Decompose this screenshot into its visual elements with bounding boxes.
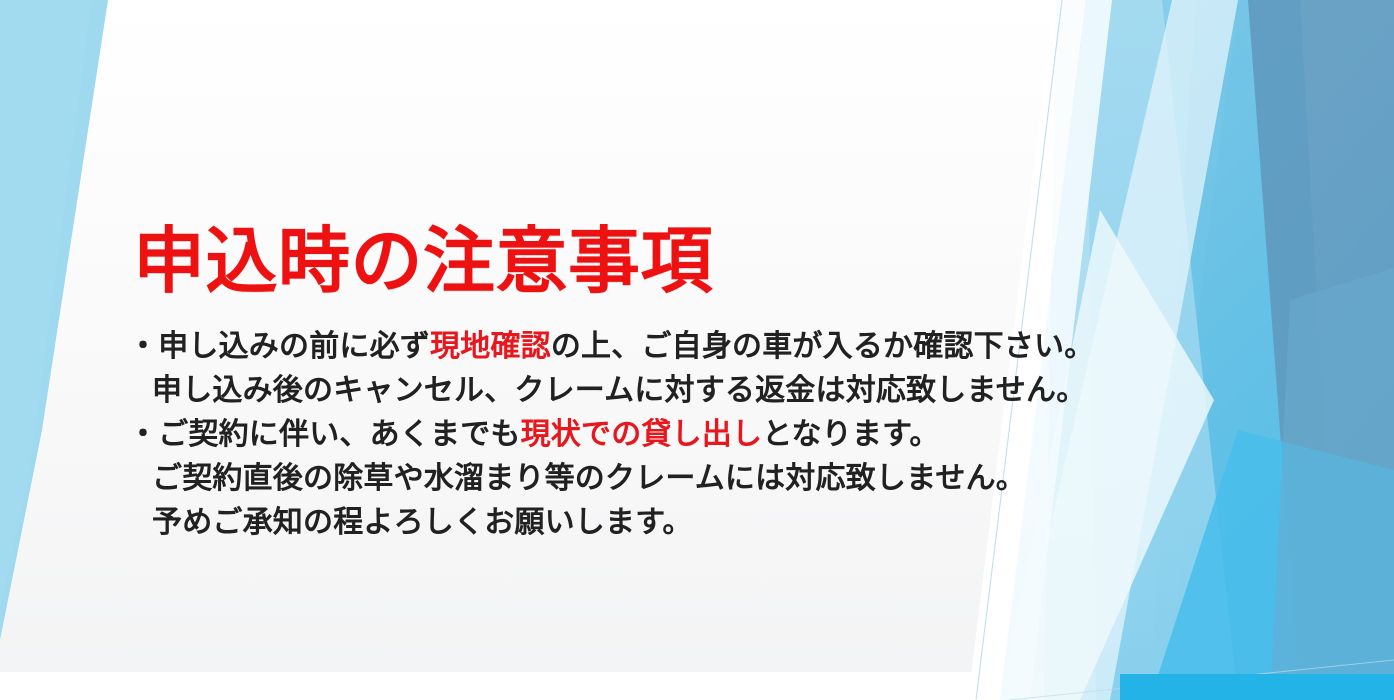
bullet-marker: ・ (128, 413, 158, 457)
text-run: の上、ご自身の車が入るか確認下さい。 (551, 330, 1095, 363)
presentation-slide: 申込時の注意事項 ・申し込みの前に必ず現地確認の上、ご自身の車が入るか確認下さい… (0, 0, 1394, 700)
bullet-list: ・申し込みの前に必ず現地確認の上、ご自身の車が入るか確認下さい。 申し込み後のキ… (128, 325, 1128, 545)
list-item: ・ご契約に伴い、あくまでも現状での貸し出しとなります。 (128, 413, 1128, 457)
text-run: ご契約に伴い、あくまでも (158, 418, 520, 451)
slide-content: 申込時の注意事項 ・申し込みの前に必ず現地確認の上、ご自身の車が入るか確認下さい… (0, 0, 1394, 700)
text-run: となります。 (762, 418, 939, 451)
bullet-marker: ・ (128, 325, 158, 369)
text-run: 申し込みの前に必ず (158, 330, 430, 363)
page-title: 申込時の注意事項 (133, 226, 713, 299)
list-item: ・申し込みの前に必ず現地確認の上、ご自身の車が入るか確認下さい。 (128, 325, 1128, 369)
text-run: 予めご承知の程よろしくお願いします。 (152, 506, 693, 539)
text-run: 申し込み後のキャンセル、クレームに対する返金は対応致しません。 (152, 374, 1086, 407)
list-item: 予めご承知の程よろしくお願いします。 (128, 501, 1128, 545)
list-item: ご契約直後の除草や水溜まり等のクレームには対応致しません。 (128, 457, 1128, 501)
text-run-emphasis: 現地確認 (430, 330, 551, 363)
text-run-emphasis: 現状での貸し出し (521, 418, 763, 451)
text-run: ご契約直後の除草や水溜まり等のクレームには対応致しません。 (152, 462, 1026, 495)
list-item: 申し込み後のキャンセル、クレームに対する返金は対応致しません。 (128, 369, 1128, 413)
